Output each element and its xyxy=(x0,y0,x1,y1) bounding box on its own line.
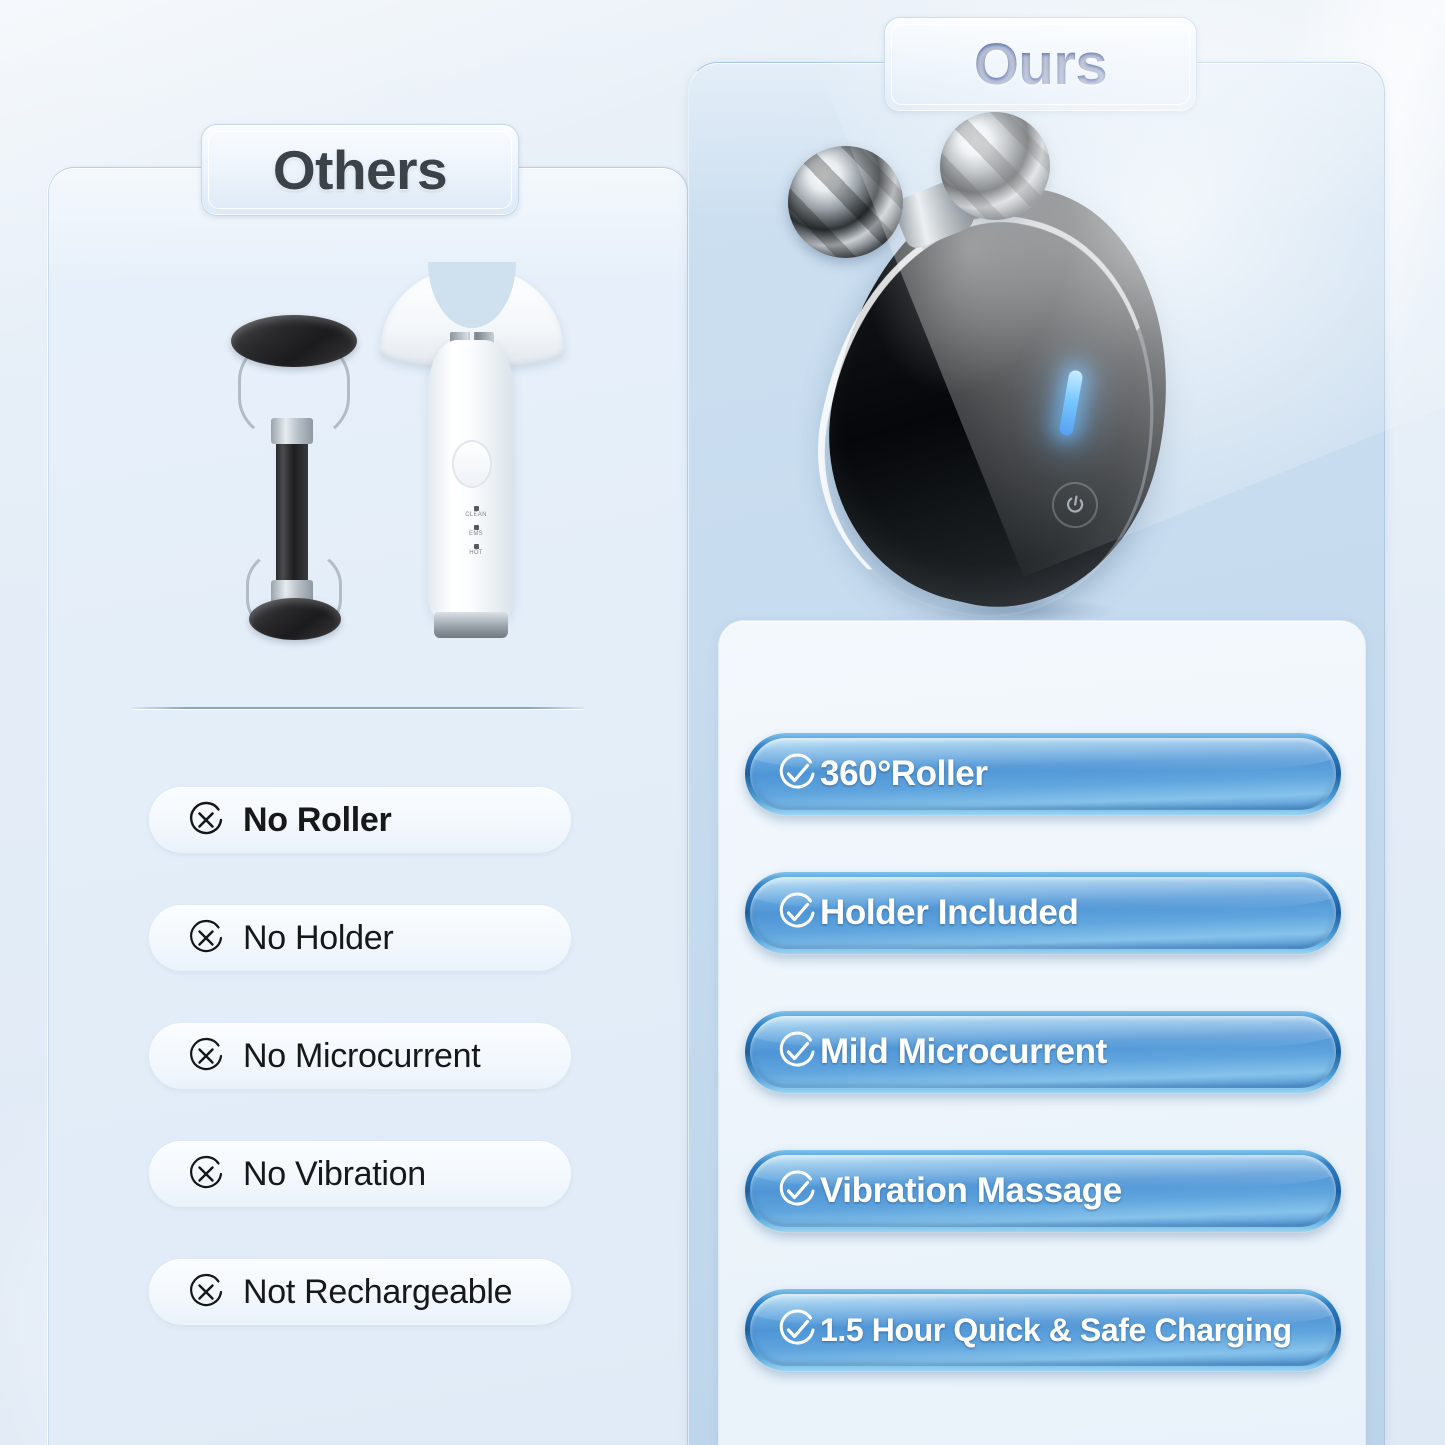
con-pill-no-roller: No Roller xyxy=(149,787,571,853)
led-label: HOT xyxy=(469,550,483,556)
ours-roller-ball-left xyxy=(788,146,903,258)
pro-label: 1.5 Hour Quick & Safe Charging xyxy=(820,1312,1292,1349)
neck-device-led-row: EMS xyxy=(448,525,504,537)
others-section-divider xyxy=(132,707,584,709)
pro-label: Vibration Massage xyxy=(820,1171,1122,1211)
check-circle-icon xyxy=(774,1307,820,1353)
pro-pill-surface: Mild Microcurrent xyxy=(750,1016,1336,1088)
led-dot-icon xyxy=(474,544,479,549)
pro-label: 360°Roller xyxy=(820,754,988,794)
con-pill-no-microcurrent: No Microcurrent xyxy=(149,1023,571,1089)
pro-pill-surface: 1.5 Hour Quick & Safe Charging xyxy=(750,1294,1336,1366)
x-circle-icon xyxy=(185,1035,227,1077)
con-label: No Roller xyxy=(243,801,391,840)
x-circle-icon xyxy=(185,917,227,959)
pro-pill-360-roller: 360°Roller xyxy=(745,733,1341,815)
others-product-images: CLEAN EMS HOT xyxy=(96,250,616,670)
roller-handle xyxy=(276,426,308,588)
jade-roller-product xyxy=(214,310,374,660)
pro-pill-surface: Vibration Massage xyxy=(750,1155,1336,1227)
con-label: No Vibration xyxy=(243,1155,426,1194)
pro-pill-vibration-massage: Vibration Massage xyxy=(745,1150,1341,1232)
pro-pill-surface: 360°Roller xyxy=(750,738,1336,810)
led-label: EMS xyxy=(469,531,483,537)
pro-label: Mild Microcurrent xyxy=(820,1032,1107,1072)
con-pill-no-vibration: No Vibration xyxy=(149,1141,571,1207)
x-circle-icon xyxy=(185,799,227,841)
x-circle-icon xyxy=(185,1271,227,1313)
roller-stone-bottom xyxy=(249,598,341,640)
roller-stone-top xyxy=(231,315,357,367)
con-label: No Holder xyxy=(243,919,393,958)
check-circle-icon xyxy=(774,890,820,936)
check-circle-icon xyxy=(774,1029,820,1075)
led-dot-icon xyxy=(474,525,479,530)
ours-pros-list: 360°Roller Holder Included Mild Microcur… xyxy=(745,733,1341,1371)
others-title-badge: Others xyxy=(201,124,519,216)
others-cons-list: No Roller No Holder No Microcurrent No V… xyxy=(149,787,571,1325)
comparison-infographic: CLEAN EMS HOT No Roller xyxy=(0,0,1445,1445)
ours-roller-ball-right xyxy=(940,112,1050,220)
pro-pill-mild-microcurrent: Mild Microcurrent xyxy=(745,1011,1341,1093)
ours-title-text: Ours xyxy=(974,31,1107,98)
check-circle-icon xyxy=(774,751,820,797)
con-label: Not Rechargeable xyxy=(243,1273,512,1312)
neck-lifting-device-product: CLEAN EMS HOT xyxy=(376,268,566,668)
con-pill-not-rechargeable: Not Rechargeable xyxy=(149,1259,571,1325)
pro-pill-holder-included: Holder Included xyxy=(745,872,1341,954)
power-icon xyxy=(1061,491,1089,519)
pro-pill-quick-safe-charging: 1.5 Hour Quick & Safe Charging xyxy=(745,1289,1341,1371)
neck-device-led-row: HOT xyxy=(448,544,504,556)
ours-title-badge: Ours xyxy=(884,17,1197,112)
neck-device-power-button xyxy=(452,440,492,488)
neck-device-base xyxy=(434,612,508,638)
led-dot-icon xyxy=(474,506,479,511)
x-circle-icon xyxy=(185,1153,227,1195)
check-circle-icon xyxy=(774,1168,820,1214)
con-label: No Microcurrent xyxy=(243,1037,480,1076)
ours-product-image xyxy=(780,108,1220,628)
led-label: CLEAN xyxy=(465,512,487,518)
pro-label: Holder Included xyxy=(820,893,1078,933)
neck-device-mode-indicators: CLEAN EMS HOT xyxy=(448,506,504,563)
roller-ferrule-top xyxy=(271,418,313,444)
con-pill-no-holder: No Holder xyxy=(149,905,571,971)
neck-device-led-row: CLEAN xyxy=(448,506,504,518)
pro-pill-surface: Holder Included xyxy=(750,877,1336,949)
others-title-text: Others xyxy=(273,138,447,202)
